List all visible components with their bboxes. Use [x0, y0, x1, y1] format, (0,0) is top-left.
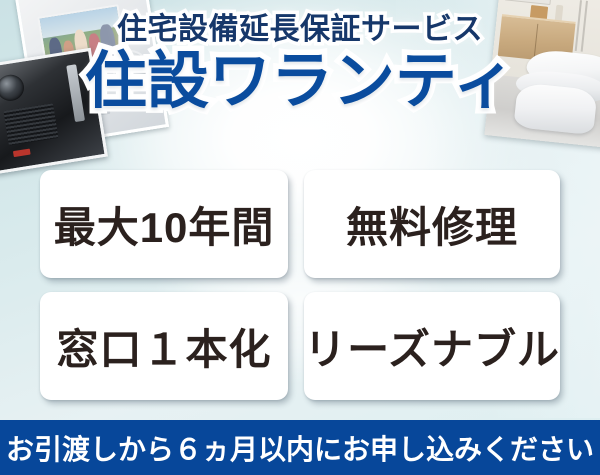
- feature-label: 最大10年間: [54, 194, 275, 255]
- cta-text: お引渡しから６ヵ月以内にお申し込みください: [6, 428, 594, 468]
- intercom-outdoor-unit-photo: [0, 48, 108, 174]
- feature-box-single-contact: 窓口１本化: [40, 292, 288, 400]
- feature-box-reasonable: リーズナブル: [304, 292, 560, 400]
- feature-label: 窓口１本化: [57, 316, 272, 377]
- toilet-bathroom-photo: [484, 0, 600, 148]
- feature-box-grid: 最大10年間 無料修理 窓口１本化 リーズナブル: [40, 170, 560, 400]
- intercom-side-strip: [67, 65, 85, 122]
- feature-label: 無料修理: [346, 194, 518, 255]
- feature-box-free-repair: 無料修理: [304, 170, 560, 278]
- intercom-camera-lens: [0, 73, 26, 103]
- cta-banner: お引渡しから６ヵ月以内にお申し込みください: [0, 420, 600, 475]
- intercom-speaker-grille: [4, 103, 59, 146]
- feature-label: リーズナブル: [304, 316, 560, 377]
- intercom-led-indicator: [13, 149, 30, 157]
- promo-banner: 住宅設備延長保証サービス 住設ワランティ 最大10年間 無料修理 窓口１本化 リ…: [0, 0, 600, 475]
- feature-box-max-10-years: 最大10年間: [40, 170, 288, 278]
